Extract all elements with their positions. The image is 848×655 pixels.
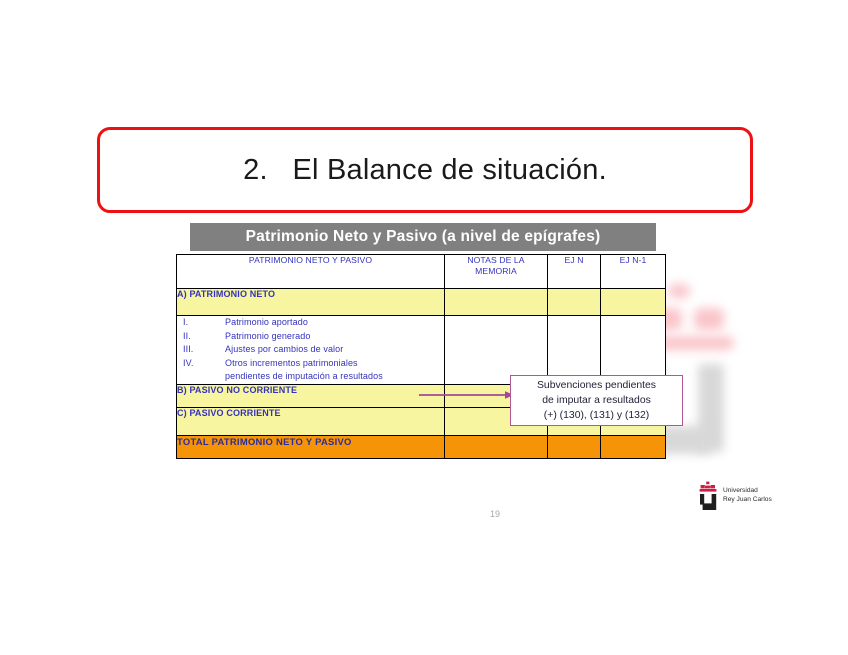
list-item: pendientes de imputación a resultados — [177, 370, 444, 384]
header-cell-concept: PATRIMONIO NETO Y PASIVO — [177, 255, 445, 289]
header-notas-line1: NOTAS DE LA — [445, 255, 547, 266]
list-item: II. Patrimonio generado — [177, 330, 444, 344]
row-label-patrimonio-neto: A) PATRIMONIO NETO — [177, 289, 445, 316]
total-value-ej-n — [548, 435, 601, 458]
item-text: Patrimonio aportado — [225, 316, 444, 330]
row-label-pasivo-no-corriente: B) PASIVO NO CORRIENTE — [177, 384, 445, 407]
item-numeral: IV. — [177, 357, 225, 371]
header-cell-ej-n: EJ N — [548, 255, 601, 289]
header-notas-line2: MEMORIA — [445, 266, 547, 277]
balance-sheet-table: PATRIMONIO NETO Y PASIVO NOTAS DE LA MEM… — [176, 254, 666, 459]
urjc-logo-wordmark: Universidad Rey Juan Carlos — [723, 487, 772, 504]
list-item: III. Ajustes por cambios de valor — [177, 343, 444, 357]
list-item: I. Patrimonio aportado — [177, 316, 444, 330]
page-title: 2. El Balance de situación. — [243, 154, 607, 187]
detail-value-ej-n — [548, 316, 601, 385]
row-label-pasivo-corriente: C) PASIVO CORRIENTE — [177, 407, 445, 435]
callout-line-1: Subvenciones pendientes — [537, 378, 656, 393]
row-label-total: TOTAL PATRIMONIO NETO Y PASIVO — [177, 435, 445, 458]
item-numeral — [177, 370, 225, 384]
item-text: Otros incrementos patrimoniales — [225, 357, 444, 371]
list-item: IV. Otros incrementos patrimoniales — [177, 357, 444, 371]
total-value-notas — [445, 435, 548, 458]
table-header-row: PATRIMONIO NETO Y PASIVO NOTAS DE LA MEM… — [177, 255, 666, 289]
item-numeral: III. — [177, 343, 225, 357]
urjc-crown-and-u-icon — [697, 481, 719, 511]
urjc-logo-line-1: Universidad — [723, 487, 772, 496]
table-row-total: TOTAL PATRIMONIO NETO Y PASIVO — [177, 435, 666, 458]
detail-roman-list-cell: I. Patrimonio aportado II. Patrimonio ge… — [177, 316, 445, 385]
detail-value-ej-n1 — [601, 316, 666, 385]
callout-line-3: (+) (130), (131) y (132) — [544, 408, 649, 423]
header-cell-notas: NOTAS DE LA MEMORIA — [445, 255, 548, 289]
row-value-notas — [445, 289, 548, 316]
row-value-ej-n1 — [601, 289, 666, 316]
detail-value-notas — [445, 316, 548, 385]
urjc-logo-line-2: Rey Juan Carlos — [723, 496, 772, 505]
table-row: A) PATRIMONIO NETO — [177, 289, 666, 316]
item-text: pendientes de imputación a resultados — [225, 370, 444, 384]
urjc-logo: Universidad Rey Juan Carlos — [697, 481, 783, 511]
item-text: Patrimonio generado — [225, 330, 444, 344]
total-value-ej-n1 — [601, 435, 666, 458]
callout-box-subvenciones: Subvenciones pendientes de imputar a res… — [510, 375, 683, 426]
row-value-ej-n — [548, 289, 601, 316]
page-number: 19 — [483, 509, 507, 519]
item-text: Ajustes por cambios de valor — [225, 343, 444, 357]
slide-title-box: 2. El Balance de situación. — [97, 127, 753, 213]
roman-numeral-list: I. Patrimonio aportado II. Patrimonio ge… — [177, 316, 444, 384]
slide-canvas: 2. El Balance de situación. Patrimonio N… — [0, 0, 848, 655]
item-numeral: II. — [177, 330, 225, 344]
table-caption-bar: Patrimonio Neto y Pasivo (a nivel de epí… — [190, 223, 656, 251]
table-row-detail-items: I. Patrimonio aportado II. Patrimonio ge… — [177, 316, 666, 385]
item-numeral: I. — [177, 316, 225, 330]
callout-line-2: de imputar a resultados — [542, 393, 651, 408]
header-cell-ej-n1: EJ N-1 — [601, 255, 666, 289]
